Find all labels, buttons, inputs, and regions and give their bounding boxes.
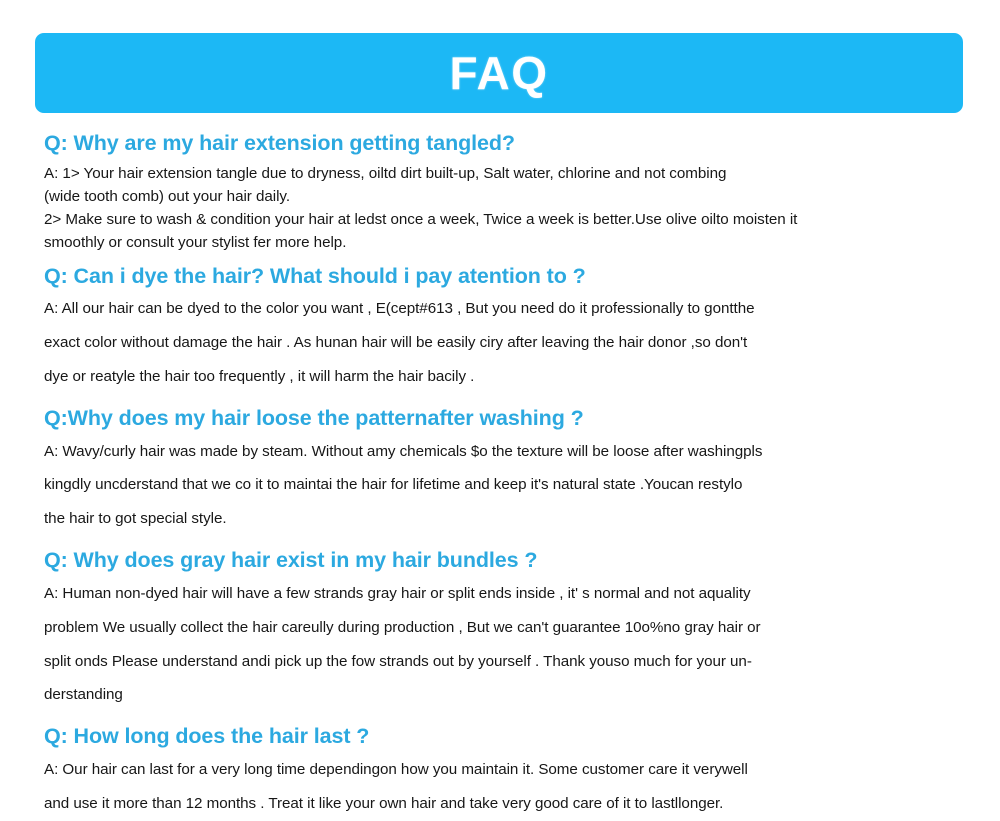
faq-answer-line: A: All our hair can be dyed to the color… [44,292,969,326]
faq-item: Q: Why are my hair extension getting tan… [44,130,969,254]
faq-page: FAQ Q: Why are my hair extension getting… [0,0,1000,812]
faq-answer-line: problem We usually collect the hair care… [44,611,969,645]
faq-item: Q: Why does gray hair exist in my hair b… [44,547,969,712]
faq-question: Q:Why does my hair loose the patternafte… [44,405,969,433]
faq-question: Q: Can i dye the hair? What should i pay… [44,263,969,291]
faq-list: Q: Why are my hair extension getting tan… [44,130,969,821]
faq-banner-title: FAQ [449,50,548,96]
faq-answer-line: exact color without damage the hair . As… [44,326,969,360]
faq-answer-line: derstanding [44,678,969,712]
faq-answer: A: Human non-dyed hair will have a few s… [44,577,969,713]
faq-answer-line: kingdly uncderstand that we co it to mai… [44,468,969,502]
faq-answer: A: 1> Your hair extension tangle due to … [44,162,969,254]
faq-item: Q:Why does my hair loose the patternafte… [44,405,969,536]
faq-answer-line: smoothly or consult your stylist fer mor… [44,231,969,254]
faq-answer-line: dye or reatyle the hair too frequently ,… [44,360,969,394]
faq-question: Q: Why are my hair extension getting tan… [44,130,969,158]
faq-banner: FAQ [35,33,963,113]
faq-question: Q: How long does the hair last ? [44,723,969,751]
faq-item: Q: How long does the hair last ? A: Our … [44,723,969,820]
faq-answer-line: (wide tooth comb) out your hair daily. [44,185,969,208]
faq-answer-line: split onds Please understand andi pick u… [44,645,969,679]
faq-answer-line: A: Our hair can last for a very long tim… [44,753,969,787]
faq-answer: A: All our hair can be dyed to the color… [44,292,969,394]
faq-answer-line: 2> Make sure to wash & condition your ha… [44,208,969,231]
faq-answer-line: the hair to got special style. [44,502,969,536]
faq-answer: A: Our hair can last for a very long tim… [44,753,969,821]
faq-answer-line: A: Human non-dyed hair will have a few s… [44,577,969,611]
faq-answer-line: and use it more than 12 months . Treat i… [44,787,969,821]
faq-answer: A: Wavy/curly hair was made by steam. Wi… [44,435,969,537]
faq-item: Q: Can i dye the hair? What should i pay… [44,263,969,394]
faq-answer-line: A: 1> Your hair extension tangle due to … [44,162,969,185]
faq-answer-line: A: Wavy/curly hair was made by steam. Wi… [44,435,969,469]
faq-question: Q: Why does gray hair exist in my hair b… [44,547,969,575]
